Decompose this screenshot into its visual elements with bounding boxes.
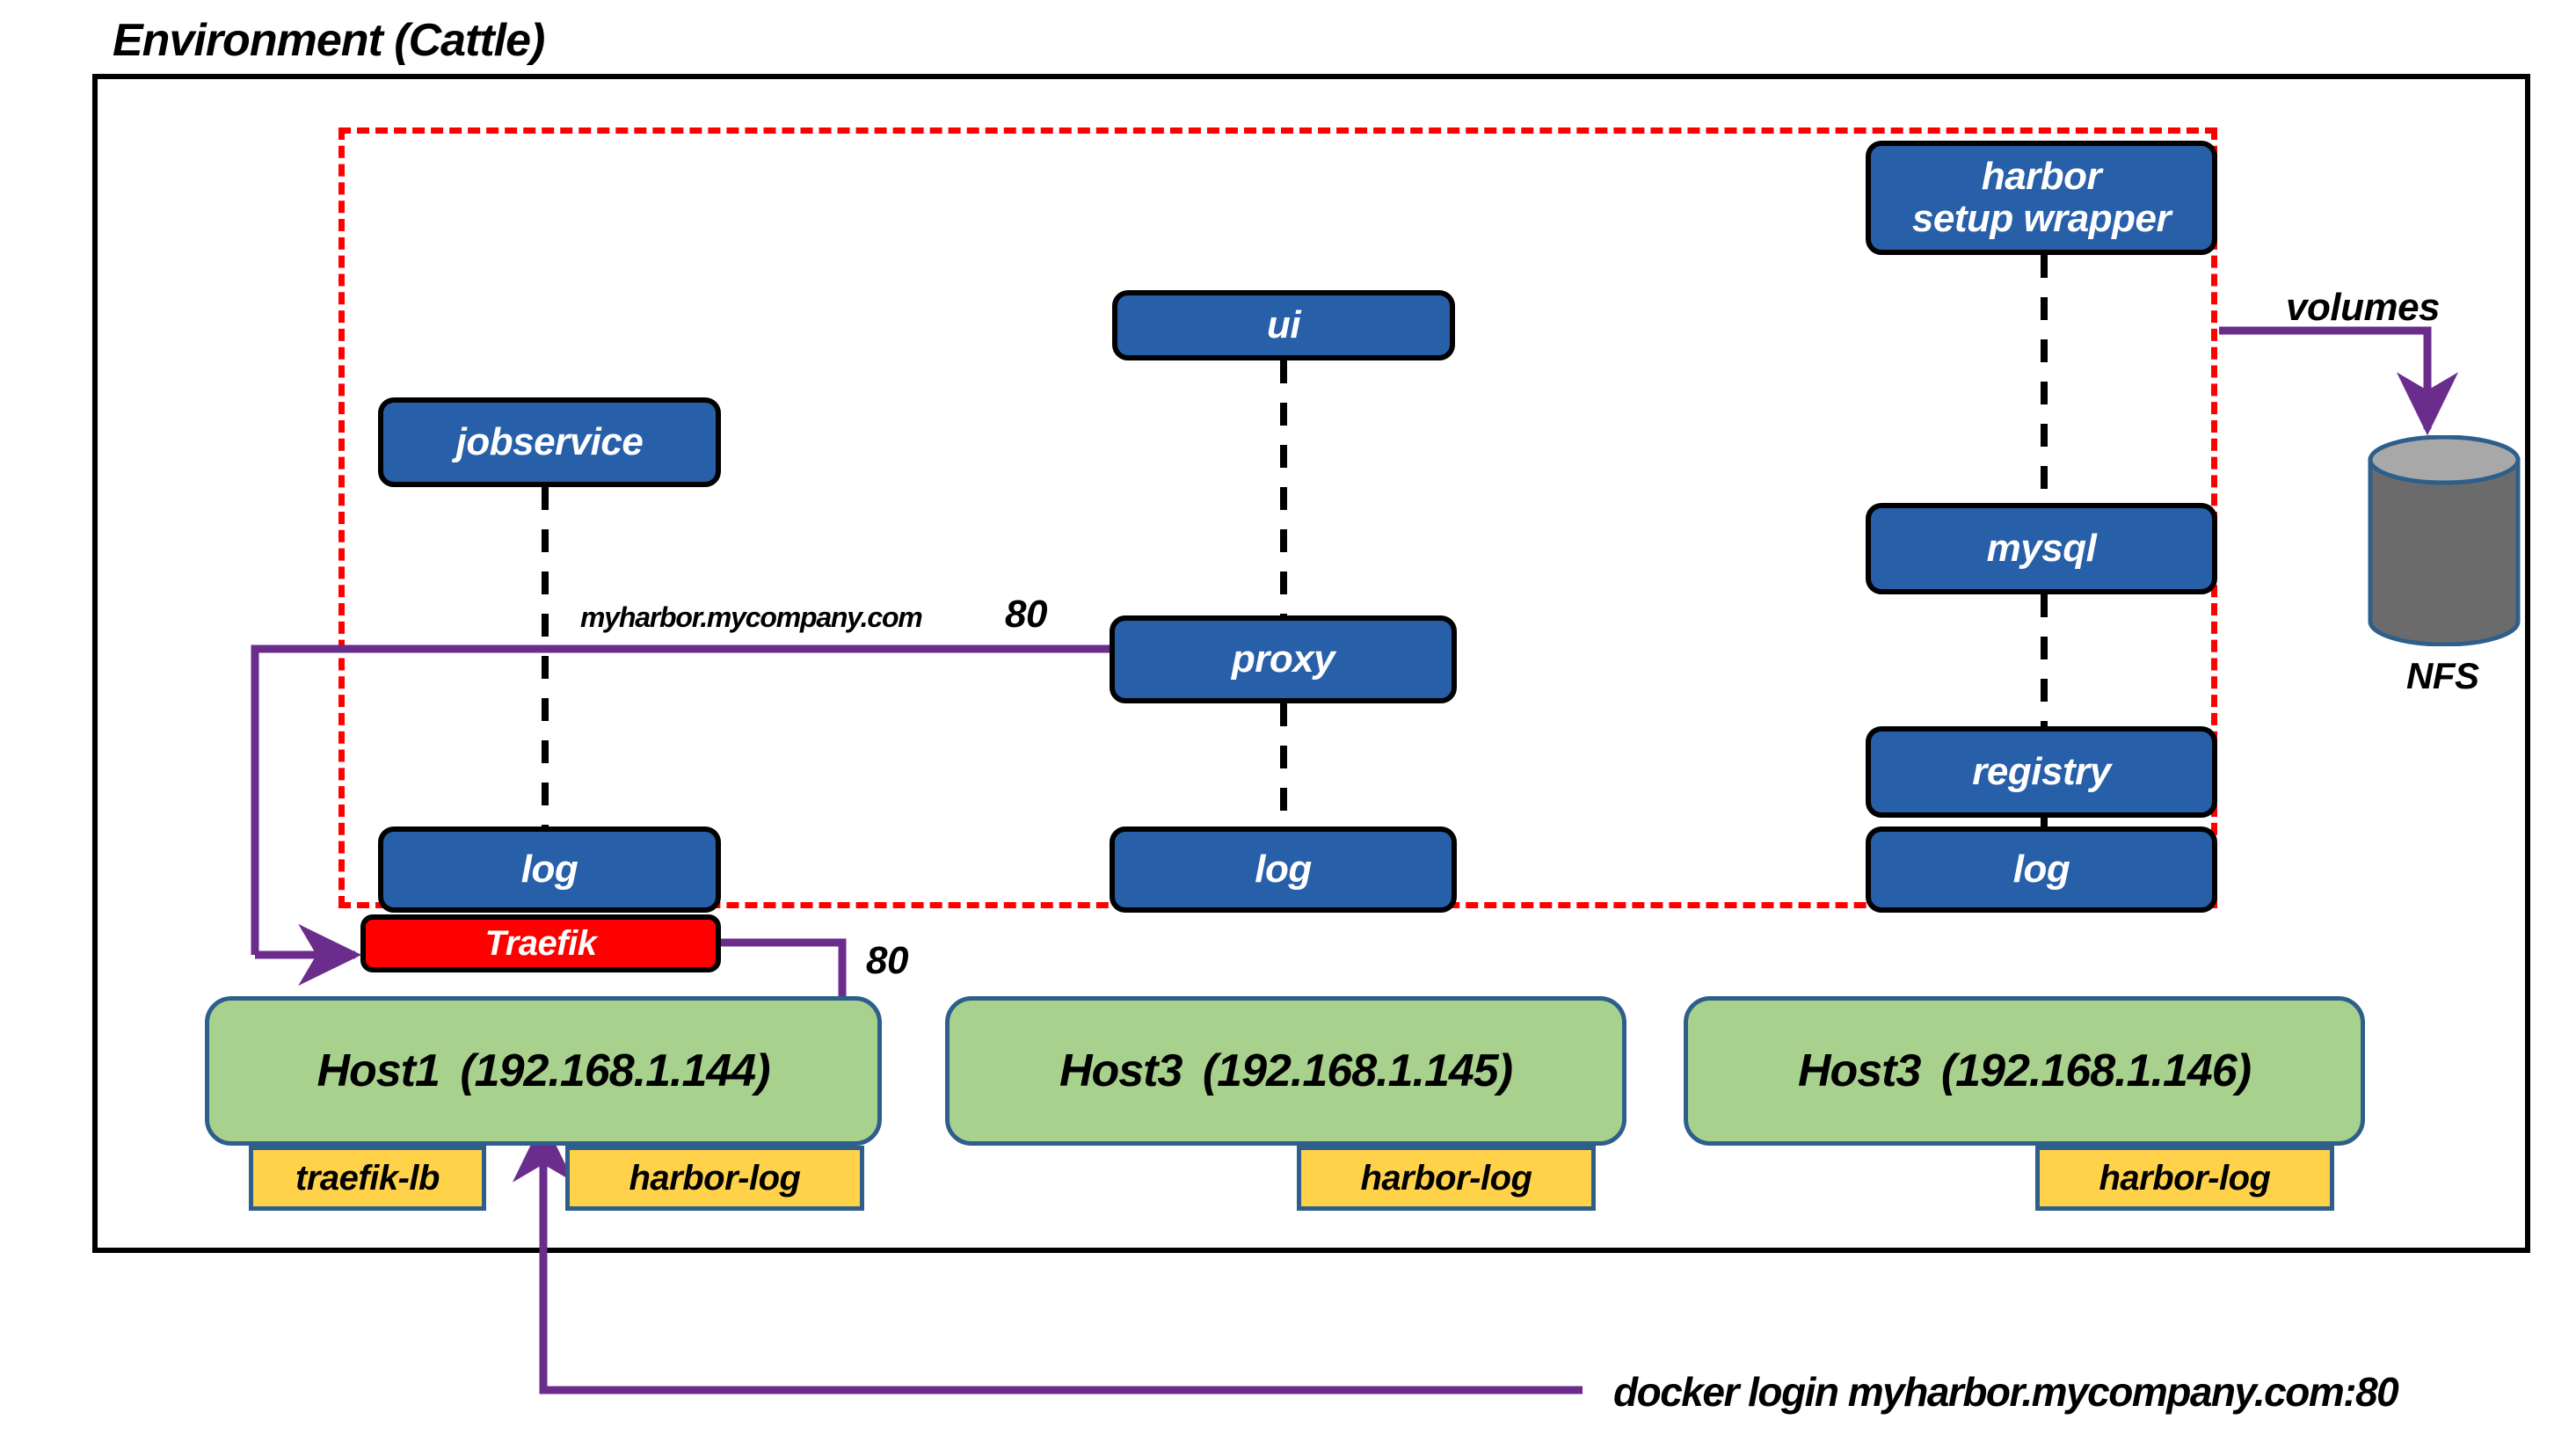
nfs-cylinder-icon [2365, 435, 2523, 646]
traefik-label: Traefik [485, 924, 597, 964]
host-label-3: Host3 (192.168.1.146) [1798, 1045, 2251, 1097]
host-label-1: Host1 (192.168.1.144) [317, 1045, 769, 1097]
service-box-registry[interactable]: registry [1866, 726, 2217, 818]
port-label-proxy: 80 [1005, 593, 1047, 637]
service-box-mysql[interactable]: mysql [1866, 503, 2217, 594]
host-box-2[interactable]: Host3 (192.168.1.145) [945, 996, 1626, 1146]
tag-harbor-log-host3[interactable]: harbor-log [2035, 1146, 2334, 1211]
tag-label: harbor-log [629, 1159, 801, 1198]
service-box-proxy[interactable]: proxy [1110, 615, 1457, 703]
volumes-label: volumes [2286, 286, 2440, 330]
tag-harbor-log-host2[interactable]: harbor-log [1297, 1146, 1596, 1211]
service-label: proxy [1232, 638, 1335, 681]
host-label-2: Host3 (192.168.1.145) [1059, 1045, 1512, 1097]
tag-label: harbor-log [2099, 1159, 2271, 1198]
nfs-label: NFS [2406, 655, 2479, 697]
tag-harbor-log-host1[interactable]: harbor-log [565, 1146, 864, 1211]
host-name: Host3 [1798, 1045, 1941, 1096]
diagram-canvas: Environment (Cattle) [0, 0, 2576, 1449]
service-label: log [2013, 848, 2070, 891]
host-name: Host3 [1059, 1045, 1203, 1096]
service-label-line1: harbor [1982, 156, 2101, 198]
service-label: log [521, 848, 578, 891]
service-label: registry [1972, 751, 2110, 793]
tag-label: harbor-log [1361, 1159, 1532, 1198]
service-box-log-left[interactable]: log [378, 826, 721, 913]
environment-title: Environment (Cattle) [113, 14, 544, 67]
service-label: ui [1267, 304, 1300, 346]
docker-login-command: docker login myharbor.mycompany.com:80 [1613, 1368, 2398, 1416]
tag-traefik-lb-host1[interactable]: traefik-lb [249, 1146, 486, 1211]
service-box-log-right[interactable]: log [1866, 826, 2217, 913]
service-box-harbor-setup-wrapper[interactable]: harbor setup wrapper [1866, 141, 2217, 255]
traefik-box[interactable]: Traefik [360, 914, 721, 972]
service-label-line2: setup wrapper [1912, 198, 2171, 240]
host-ip-highlighted: (192.168.1.144) [460, 1045, 769, 1096]
host-ip: (192.168.1.145) [1203, 1045, 1512, 1096]
tag-label: traefik-lb [295, 1159, 440, 1198]
host-name: Host1 [317, 1045, 460, 1096]
hostname-label: myharbor.mycompany.com [580, 601, 922, 634]
service-label: jobservice [456, 421, 644, 463]
service-label: log [1255, 848, 1311, 891]
host-box-1[interactable]: Host1 (192.168.1.144) [205, 996, 882, 1146]
host-box-3[interactable]: Host3 (192.168.1.146) [1684, 996, 2365, 1146]
service-box-ui[interactable]: ui [1112, 290, 1455, 360]
service-box-jobservice[interactable]: jobservice [378, 397, 721, 487]
service-label: mysql [1987, 528, 2097, 570]
host-ip: (192.168.1.146) [1941, 1045, 2251, 1096]
service-box-log-middle[interactable]: log [1110, 826, 1457, 913]
port-label-traefik: 80 [866, 939, 908, 983]
